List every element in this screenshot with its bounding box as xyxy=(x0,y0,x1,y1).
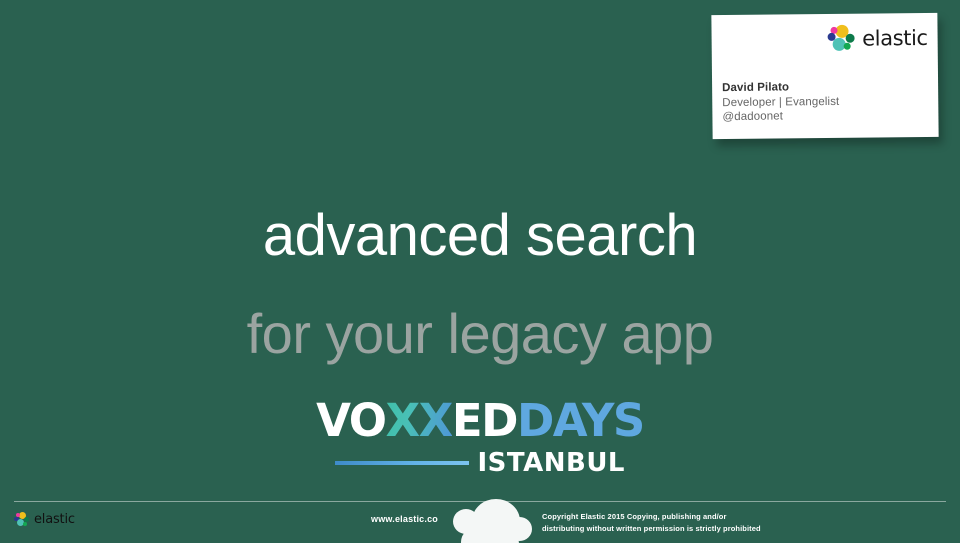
voxxed-city-text: ISTANBUL xyxy=(478,450,626,476)
speaker-role: Developer | Evangelist xyxy=(722,95,839,111)
footer-brand-label: elastic xyxy=(34,512,75,527)
speaker-business-card: elastic David Pilato Developer | Evangel… xyxy=(711,13,938,139)
card-elastic-logo: elastic xyxy=(827,24,928,53)
copyright-line-1: Copyright Elastic 2015 Copying, publishi… xyxy=(542,511,761,523)
footer-copyright: Copyright Elastic 2015 Copying, publishi… xyxy=(542,511,761,534)
voxxed-city-row: ISTANBUL xyxy=(335,450,625,476)
footer-elastic-logo: elastic xyxy=(14,512,75,527)
voxxed-ed-text: ED xyxy=(452,398,517,443)
voxxed-vo-text: VO xyxy=(316,398,385,443)
voxxed-days-logo: VO XX ED DAYS ISTANBUL xyxy=(0,398,960,476)
elastic-cloud-watermark xyxy=(449,497,533,543)
card-brand-label: elastic xyxy=(862,26,928,51)
voxxed-divider-rule xyxy=(335,461,469,465)
voxxed-days-text: DAYS xyxy=(517,398,644,443)
slide-subtitle: for your legacy app xyxy=(0,301,960,366)
copyright-line-2: distributing without written permission … xyxy=(542,523,761,535)
voxxed-days-wordmark: VO XX ED DAYS xyxy=(316,398,644,443)
footer-divider xyxy=(14,501,946,502)
elastic-flower-icon xyxy=(14,512,29,527)
speaker-handle: @dadoonet xyxy=(722,109,839,125)
speaker-name: David Pilato xyxy=(722,80,839,96)
slide-title: advanced search xyxy=(0,202,960,269)
card-speaker-details: David Pilato Developer | Evangelist @dad… xyxy=(722,80,840,125)
business-card-surface: elastic David Pilato Developer | Evangel… xyxy=(711,13,938,139)
footer-website-url: www.elastic.co xyxy=(371,514,438,524)
voxxed-xx-text: XX xyxy=(385,398,451,443)
elastic-flower-icon xyxy=(827,25,855,53)
